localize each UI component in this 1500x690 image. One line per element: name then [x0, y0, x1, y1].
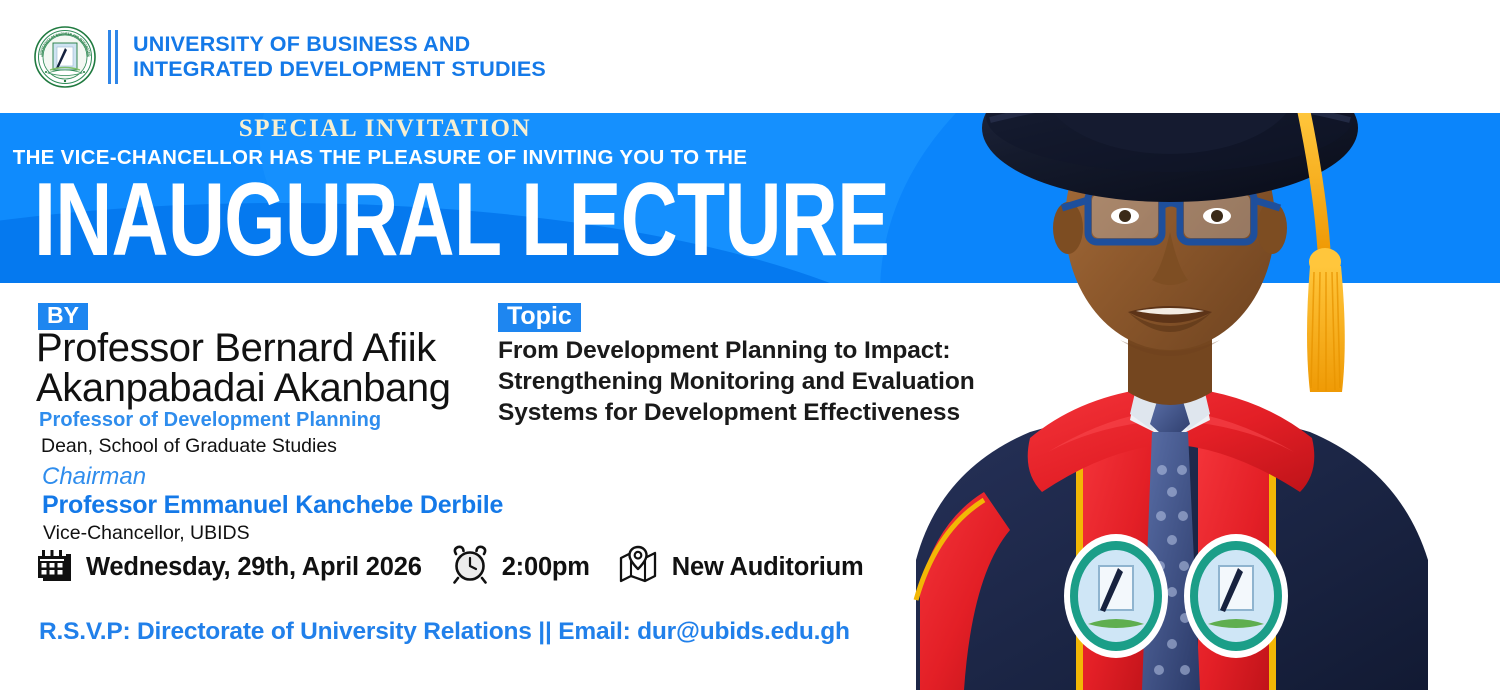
map-pin-icon — [618, 545, 658, 590]
event-venue: New Auditorium — [672, 553, 864, 582]
university-name-line1: UNIVERSITY OF BUSINESS AND — [133, 32, 546, 57]
university-name: UNIVERSITY OF BUSINESS AND INTEGRATED DE… — [133, 32, 546, 82]
page-title: INAUGURAL LECTURE — [34, 168, 889, 272]
brand-divider-bars — [108, 30, 121, 84]
special-invitation-eyebrow: SPECIAL INVITATION — [0, 115, 770, 143]
event-time: 2:00pm — [502, 553, 590, 582]
calendar-icon — [36, 545, 76, 590]
university-name-line2: INTEGRATED DEVELOPMENT STUDIES — [133, 57, 546, 82]
page-header: UNIVERSITY OF BUSINESS AND INTEGRATED DE… — [0, 0, 1500, 113]
topic-badge: Topic — [498, 303, 581, 332]
chairman-label: Chairman — [42, 463, 146, 491]
university-seal-icon: UNIVERSITY OF BUSINESS AND INTEGRATED DE… — [34, 26, 96, 88]
alarm-clock-icon — [450, 545, 490, 590]
speaker-role: Professor of Development Planning — [39, 409, 381, 432]
event-date: Wednesday, 29th, April 2026 — [86, 553, 422, 582]
speaker-name: Professor Bernard Afiik Akanpabadai Akan… — [36, 328, 506, 408]
brand-lockup: UNIVERSITY OF BUSINESS AND INTEGRATED DE… — [34, 26, 546, 88]
rsvp-line: R.S.V.P: Directorate of University Relat… — [39, 618, 850, 646]
topic-text: From Development Planning to Impact: Str… — [498, 335, 1058, 428]
event-meta-row: Wednesday, 29th, April 2026 2:00pm — [36, 545, 864, 590]
chairman-title: Vice-Chancellor, UBIDS — [43, 522, 250, 545]
invitation-details: BY Professor Bernard Afiik Akanpabadai A… — [0, 283, 1040, 690]
speaker-department: Dean, School of Graduate Studies — [41, 435, 337, 458]
chairman-name: Professor Emmanuel Kanchebe Derbile — [42, 491, 503, 520]
